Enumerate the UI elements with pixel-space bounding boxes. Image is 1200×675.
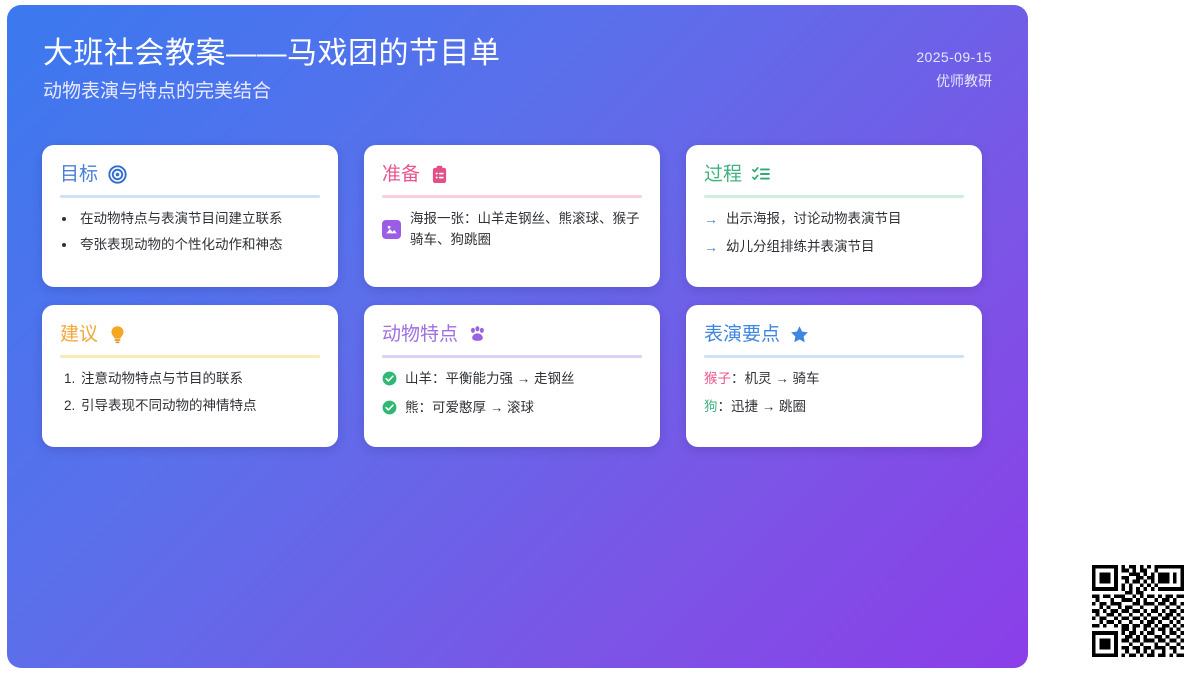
slide-header: 大班社会教案——马戏团的节目单 动物表演与特点的完美结合 2025-09-15 …	[7, 5, 1028, 135]
header-date: 2025-09-15	[916, 47, 992, 68]
lesson-plan-panel: 大班社会教案——马戏团的节目单 动物表演与特点的完美结合 2025-09-15 …	[7, 5, 1028, 668]
list-item: 在动物特点与表演节目间建立联系	[77, 209, 320, 230]
header-source: 优师教研	[916, 70, 992, 92]
slide-canvas: 大班社会教案——马戏团的节目单 动物表演与特点的完美结合 2025-09-15 …	[0, 0, 1200, 675]
card-header: 准备	[382, 161, 642, 187]
arrow-right-icon: →	[704, 209, 718, 230]
list-item-text: 出示海报，讨论动物表演节目	[726, 209, 902, 230]
card-header: 过程	[704, 161, 964, 187]
check-circle-icon	[382, 371, 397, 386]
qr-code[interactable]	[1092, 565, 1184, 657]
card-body: 山羊：平衡能力强 → 走钢丝 熊：可爱憨厚 → 滚球	[382, 369, 642, 418]
card-rule	[60, 355, 320, 358]
card-header: 动物特点	[382, 321, 642, 347]
card-body: → 出示海报，讨论动物表演节目 → 幼儿分组排练并表演节目	[704, 209, 964, 258]
list-item: 注意动物特点与节目的联系	[79, 369, 320, 390]
page-title: 大班社会教案——马戏团的节目单	[43, 35, 501, 73]
header-title-block: 大班社会教案——马戏团的节目单 动物表演与特点的完美结合	[43, 35, 501, 104]
card-body: 在动物特点与表演节目间建立联系 夸张表现动物的个性化动作和神态	[60, 209, 320, 255]
card-title-advice: 建议	[60, 325, 98, 344]
card-title-prepare: 准备	[382, 165, 420, 184]
card-rule	[382, 195, 642, 198]
card-rule	[382, 355, 642, 358]
card-grid: 目标 在动物特点与表演节目间建立联系 夸张表现动物的个性化动作和神态	[42, 145, 994, 447]
kv-key: 狗	[704, 399, 718, 414]
page-subtitle: 动物表演与特点的完美结合	[43, 80, 501, 105]
lightbulb-icon	[107, 324, 127, 344]
card-header: 目标	[60, 161, 320, 187]
list-item-text: 熊：可爱憨厚 → 滚球	[405, 398, 534, 419]
advice-list: 注意动物特点与节目的联系 引导表现不同动物的神情特点	[60, 369, 320, 416]
card-rule	[704, 195, 964, 198]
list-item-text: 山羊：平衡能力强 → 走钢丝	[405, 369, 575, 390]
kv-key: 猴子	[704, 371, 731, 386]
card-title-process: 过程	[704, 165, 742, 184]
card-advice[interactable]: 建议 注意动物特点与节目的联系 引导表现不同动物的神情特点	[42, 305, 338, 447]
bullseye-icon	[107, 164, 127, 184]
star-icon	[789, 324, 809, 344]
list-item: 熊：可爱憨厚 → 滚球	[382, 398, 642, 419]
list-item-text: 海报一张：山羊走钢丝、熊滚球、猴子骑车、狗跳圈	[410, 209, 642, 250]
list-item: 狗：迅捷 → 跳圈	[704, 397, 964, 418]
card-goal[interactable]: 目标 在动物特点与表演节目间建立联系 夸张表现动物的个性化动作和神态	[42, 145, 338, 287]
card-title-performance-points: 表演要点	[704, 325, 780, 344]
paw-icon	[467, 324, 487, 344]
card-body: 注意动物特点与节目的联系 引导表现不同动物的神情特点	[60, 369, 320, 416]
card-animal-traits[interactable]: 动物特点	[364, 305, 660, 447]
list-item: 山羊：平衡能力强 → 走钢丝	[382, 369, 642, 390]
list-item: 猴子：机灵 → 骑车	[704, 369, 964, 390]
kv-value: ：机灵 → 骑车	[731, 371, 820, 386]
image-icon	[382, 220, 401, 239]
arrow-right-icon: →	[704, 237, 718, 258]
qr-code-image	[1092, 565, 1184, 657]
list-item: → 幼儿分组排练并表演节目	[704, 237, 964, 258]
card-body: 海报一张：山羊走钢丝、熊滚球、猴子骑车、狗跳圈	[382, 209, 642, 250]
card-header: 建议	[60, 321, 320, 347]
kv-value: ：迅捷 → 跳圈	[718, 399, 807, 414]
list-item: → 出示海报，讨论动物表演节目	[704, 209, 964, 230]
goal-list: 在动物特点与表演节目间建立联系 夸张表现动物的个性化动作和神态	[60, 209, 320, 255]
card-header: 表演要点	[704, 321, 964, 347]
card-body: 猴子：机灵 → 骑车 狗：迅捷 → 跳圈	[704, 369, 964, 418]
list-item: 夸张表现动物的个性化动作和神态	[77, 235, 320, 256]
clipboard-list-icon	[429, 164, 449, 184]
list-item: 引导表现不同动物的神情特点	[79, 396, 320, 417]
card-performance-points[interactable]: 表演要点 猴子：机灵 → 骑车 狗：迅捷 → 跳圈	[686, 305, 982, 447]
list-item: 海报一张：山羊走钢丝、熊滚球、猴子骑车、狗跳圈	[382, 209, 642, 250]
header-meta-block: 2025-09-15 优师教研	[916, 47, 992, 92]
list-item-text: 幼儿分组排练并表演节目	[726, 237, 875, 258]
card-prepare[interactable]: 准备	[364, 145, 660, 287]
card-rule	[60, 195, 320, 198]
check-circle-icon	[382, 400, 397, 415]
checklist-icon	[751, 164, 771, 184]
card-title-animal-traits: 动物特点	[382, 325, 458, 344]
card-title-goal: 目标	[60, 165, 98, 184]
card-process[interactable]: 过程 → 出示海报，讨论动物表	[686, 145, 982, 287]
card-rule	[704, 355, 964, 358]
